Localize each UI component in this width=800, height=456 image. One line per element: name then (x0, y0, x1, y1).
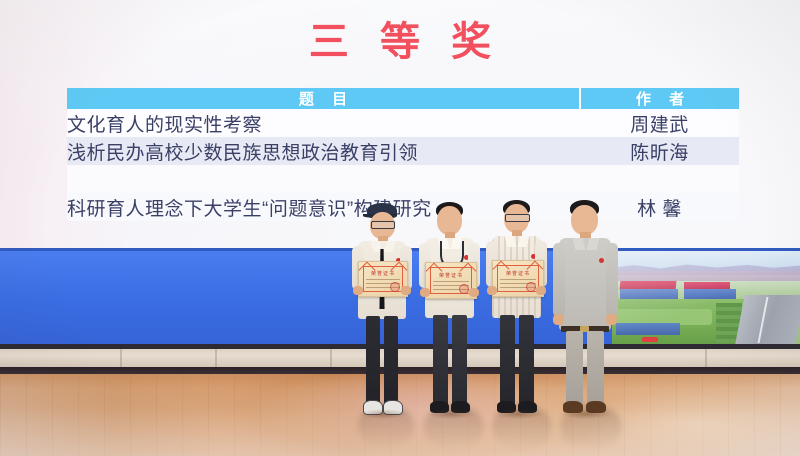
page-title: 三 等 奖 (0, 20, 800, 64)
leg-right (384, 316, 398, 404)
leg-right (452, 315, 467, 405)
certificate-heading: 荣誉证书 (371, 270, 395, 277)
baseboard-seam (330, 349, 332, 367)
hand-right (469, 288, 479, 297)
leg-left (366, 316, 380, 404)
arm-left (553, 243, 565, 317)
shirt (559, 238, 611, 330)
foot-shadow (493, 409, 543, 419)
glasses (505, 214, 530, 222)
hand-right (536, 286, 546, 295)
hand-left (487, 286, 497, 295)
leg-left (433, 315, 448, 405)
spacer-cell (580, 165, 739, 193)
foot-shadow (358, 409, 408, 419)
cell-author: 周建武 (580, 109, 739, 137)
leg-left (500, 315, 515, 405)
certificate-heading: 荣誉证书 (506, 270, 530, 277)
aerial-campus-image (612, 251, 800, 344)
glasses (371, 221, 395, 229)
hand-right (401, 286, 411, 295)
baseboard-seam (215, 349, 217, 367)
column-header-title: 题 目 (67, 88, 580, 109)
lapel-pin (599, 258, 604, 263)
certificate-seal (390, 282, 400, 292)
leg-left (566, 331, 583, 405)
leg-right (519, 315, 534, 405)
foot-shadow (560, 409, 612, 419)
certificate-seal (459, 284, 469, 294)
baseboard-seam (120, 349, 122, 367)
presentation-photo: 三 等 奖 题 目 作 者 文化育人的现实性考察 周建武 浅析民办高校少数民族思… (0, 0, 800, 456)
certificate-seal (526, 282, 536, 292)
cell-title: 文化育人的现实性考察 (67, 109, 580, 137)
stage-skirt-shadow (0, 367, 800, 374)
column-header-author: 作 者 (580, 88, 739, 109)
table-row: 文化育人的现实性考察 周建武 (67, 109, 739, 137)
award-table: 题 目 作 者 文化育人的现实性考察 周建武 浅析民办高校少数民族思想政治教育引… (67, 88, 739, 221)
baseboard-seam (705, 349, 707, 367)
cell-author: 林 馨 (580, 193, 739, 221)
cell-title: 浅析民办高校少数民族思想政治教育引领 (67, 137, 580, 165)
leg-right (587, 331, 604, 405)
head (437, 206, 462, 235)
hand-left (553, 314, 564, 325)
arm-right (606, 243, 618, 317)
campus-screen-glare (612, 251, 800, 344)
projection-screen: 三 等 奖 题 目 作 者 文化育人的现实性考察 周建武 浅析民办高校少数民族思… (0, 0, 800, 250)
certificate-heading: 荣誉证书 (439, 272, 463, 279)
table-header-row: 题 目 作 者 (67, 88, 739, 109)
hand-left (420, 288, 430, 297)
table-row: 浅析民办高校少数民族思想政治教育引领 陈昕海 (67, 137, 739, 165)
table-row: 科研育人理念下大学生“问题意识”构建研究 林 馨 (67, 193, 739, 221)
hand-right (606, 314, 617, 325)
head (571, 205, 598, 235)
cell-author: 陈昕海 (580, 137, 739, 165)
table-spacer-row (67, 165, 739, 193)
spacer-cell (67, 165, 580, 193)
hand-left (353, 286, 363, 295)
foot-shadow (426, 409, 476, 419)
